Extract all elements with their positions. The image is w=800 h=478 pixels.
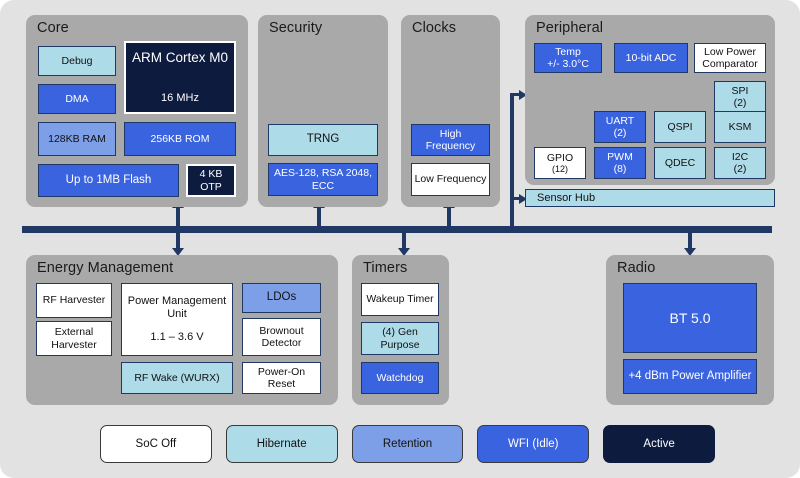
legend-item-wfi-idle[interactable]: WFI (Idle) bbox=[477, 425, 589, 463]
block-watchdog[interactable]: Watchdog bbox=[361, 362, 439, 394]
block-spi-label: SPI bbox=[732, 85, 749, 97]
block-spi-count: (2) bbox=[734, 97, 747, 109]
block-power-management-unit[interactable]: Power Management Unit 1.1 – 3.6 V bbox=[121, 283, 233, 356]
section-core-title: Core bbox=[37, 20, 69, 36]
block-temp-sensor-accuracy: +/- 3.0°C bbox=[547, 58, 589, 70]
block-arm-cortex-m0-label: ARM Cortex M0 bbox=[132, 50, 228, 65]
block-bt-5-0[interactable]: BT 5.0 bbox=[623, 283, 757, 353]
bus-stem-security bbox=[317, 207, 321, 229]
section-security-title: Security bbox=[269, 20, 322, 36]
block-ldos[interactable]: LDOs bbox=[242, 283, 321, 313]
block-gpio-label: GPIO bbox=[547, 152, 573, 164]
block-gpio-count: (12) bbox=[552, 164, 568, 174]
section-peripheral-title: Peripheral bbox=[536, 20, 603, 36]
block-uart[interactable]: UART (2) bbox=[594, 111, 646, 143]
block-arm-cortex-m0-clock: 16 MHz bbox=[161, 92, 199, 105]
system-bus-horizontal bbox=[22, 226, 772, 233]
block-rom[interactable]: 256KB ROM bbox=[124, 122, 236, 156]
block-power-on-reset[interactable]: Power-On Reset bbox=[242, 362, 321, 394]
block-ram[interactable]: 128KB RAM bbox=[38, 122, 116, 156]
block-qdec[interactable]: QDEC bbox=[654, 147, 706, 179]
legend-item-retention[interactable]: Retention bbox=[352, 425, 464, 463]
block-low-power-comparator[interactable]: Low Power Comparator bbox=[694, 43, 766, 73]
block-dma[interactable]: DMA bbox=[38, 84, 116, 114]
section-radio-title: Radio bbox=[617, 260, 655, 276]
bus-stem-radio bbox=[688, 230, 692, 250]
block-uart-count: (2) bbox=[614, 127, 627, 139]
bus-stem-core bbox=[176, 207, 180, 229]
section-energy-management-title: Energy Management bbox=[37, 260, 173, 276]
block-otp[interactable]: 4 KB OTP bbox=[186, 164, 236, 197]
block-pwm[interactable]: PWM (8) bbox=[594, 147, 646, 179]
block-sensor-hub[interactable]: Sensor Hub bbox=[525, 189, 775, 207]
block-arm-cortex-m0[interactable]: ARM Cortex M0 16 MHz bbox=[124, 41, 236, 114]
block-crypto[interactable]: AES-128, RSA 2048, ECC bbox=[268, 163, 378, 196]
block-pwm-label: PWM bbox=[607, 151, 633, 163]
block-external-harvester[interactable]: External Harvester bbox=[36, 321, 112, 356]
legend-item-hibernate[interactable]: Hibernate bbox=[226, 425, 338, 463]
legend-item-soc-off[interactable]: SoC Off bbox=[100, 425, 212, 463]
block-adc[interactable]: 10-bit ADC bbox=[614, 43, 688, 73]
block-pmu-voltage-range: 1.1 – 3.6 V bbox=[150, 331, 203, 344]
block-high-frequency[interactable]: High Frequency bbox=[411, 124, 490, 156]
section-clocks-title: Clocks bbox=[412, 20, 456, 36]
block-flash[interactable]: Up to 1MB Flash bbox=[38, 164, 179, 197]
block-debug[interactable]: Debug bbox=[38, 46, 116, 76]
block-temp-sensor[interactable]: Temp +/- 3.0°C bbox=[534, 43, 602, 73]
system-bus-vertical-peripheral bbox=[510, 93, 514, 229]
bus-stem-timers bbox=[402, 230, 406, 250]
block-i2c[interactable]: I2C (2) bbox=[714, 147, 766, 179]
block-i2c-count: (2) bbox=[734, 163, 747, 175]
block-ksm[interactable]: KSM bbox=[714, 111, 766, 143]
soc-block-diagram: Core Debug DMA ARM Cortex M0 16 MHz 128K… bbox=[0, 0, 800, 478]
block-gen-purpose-timers[interactable]: (4) Gen Purpose bbox=[361, 322, 439, 355]
block-rf-wake-wurx[interactable]: RF Wake (WURX) bbox=[121, 362, 233, 394]
bus-stem-energy bbox=[176, 230, 180, 250]
legend-item-active[interactable]: Active bbox=[603, 425, 715, 463]
block-trng[interactable]: TRNG bbox=[268, 124, 378, 156]
block-uart-label: UART bbox=[606, 115, 634, 127]
block-spi[interactable]: SPI (2) bbox=[714, 81, 766, 113]
bus-stem-clocks bbox=[447, 207, 451, 229]
block-qspi[interactable]: QSPI bbox=[654, 111, 706, 143]
block-gpio[interactable]: GPIO (12) bbox=[534, 147, 586, 179]
power-state-legend: SoC Off Hibernate Retention WFI (Idle) A… bbox=[100, 425, 715, 463]
block-temp-sensor-label: Temp bbox=[555, 46, 581, 58]
block-power-amplifier[interactable]: +4 dBm Power Amplifier bbox=[623, 359, 757, 394]
block-low-frequency[interactable]: Low Frequency bbox=[411, 163, 490, 196]
block-pmu-label: Power Management Unit bbox=[124, 295, 230, 321]
block-pwm-count: (8) bbox=[614, 163, 627, 175]
block-rf-harvester[interactable]: RF Harvester bbox=[36, 283, 112, 318]
block-brownout-detector[interactable]: Brownout Detector bbox=[242, 318, 321, 356]
section-timers-title: Timers bbox=[363, 260, 407, 276]
block-i2c-label: I2C bbox=[732, 151, 748, 163]
block-wakeup-timer[interactable]: Wakeup Timer bbox=[361, 283, 439, 316]
